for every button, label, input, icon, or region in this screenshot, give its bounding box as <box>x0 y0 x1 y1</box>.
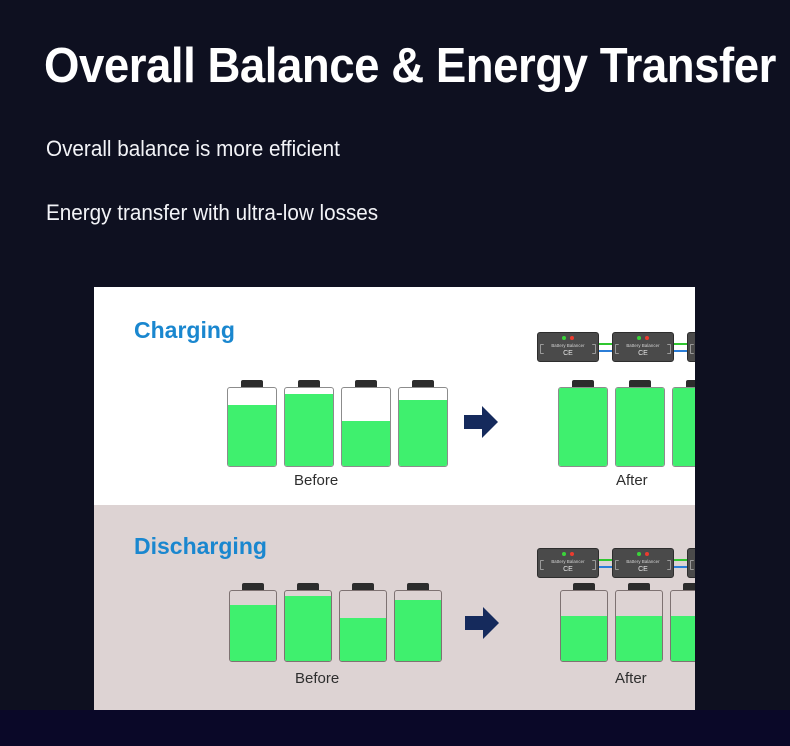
terminal-clip-icon <box>615 344 619 354</box>
balancer-module: Battery Balancer CE <box>687 332 695 362</box>
battery-terminal-icon <box>298 380 320 387</box>
terminal-clip-icon <box>667 560 671 570</box>
balancer-module: Battery Balancer CE <box>537 548 599 578</box>
battery-terminal-icon <box>412 380 434 387</box>
battery-fill <box>671 616 695 662</box>
connector-wires <box>599 332 612 362</box>
battery-cell <box>341 380 391 467</box>
balancer-name: Battery Balancer <box>551 559 584 564</box>
battery-fill <box>230 605 276 661</box>
bottom-band <box>0 710 790 746</box>
blue-wire <box>599 566 612 568</box>
battery-cell <box>227 380 277 467</box>
balancer-name: Battery Balancer <box>626 343 659 348</box>
discharging-balancer-row: Battery Balancer CE Battery Balancer CE <box>537 548 695 578</box>
red-led-icon <box>645 336 649 340</box>
battery-body <box>672 387 695 467</box>
battery-body <box>339 590 387 662</box>
discharging-panel-title: Discharging <box>134 533 267 560</box>
battery-body <box>558 387 608 467</box>
battery-fill <box>559 388 607 466</box>
charging-before-label: Before <box>294 472 338 489</box>
terminal-clip-icon <box>690 560 694 570</box>
terminal-clip-icon <box>592 344 596 354</box>
balancer-cert: CE <box>638 350 648 357</box>
terminal-clip-icon <box>540 560 544 570</box>
battery-terminal-icon <box>629 380 651 387</box>
battery-body <box>398 387 448 467</box>
battery-body <box>284 590 332 662</box>
balancer-module: Battery Balancer CE <box>537 332 599 362</box>
charging-panel: Charging Battery Balancer CE <box>94 287 695 505</box>
page-subtitle-1: Overall balance is more efficient <box>46 136 340 162</box>
battery-cell <box>284 380 334 467</box>
battery-cell <box>394 583 442 662</box>
battery-fill <box>340 618 386 661</box>
battery-terminal-icon <box>628 583 650 590</box>
discharging-before-batteries <box>229 583 442 662</box>
led-indicators <box>562 336 574 340</box>
connector-wires <box>674 332 687 362</box>
right-arrow-icon <box>465 605 499 641</box>
battery-body <box>615 387 665 467</box>
led-indicators <box>562 552 574 556</box>
red-led-icon <box>645 552 649 556</box>
battery-body <box>615 590 663 662</box>
red-led-icon <box>570 552 574 556</box>
balancer-cert: CE <box>563 350 573 357</box>
battery-cell <box>339 583 387 662</box>
discharging-before-label: Before <box>295 670 339 687</box>
battery-fill <box>395 600 441 661</box>
terminal-clip-icon <box>615 560 619 570</box>
balancer-name: Battery Balancer <box>626 559 659 564</box>
battery-fill <box>342 421 390 466</box>
page-title: Overall Balance & Energy Transfer <box>44 38 776 94</box>
battery-cell <box>398 380 448 467</box>
balance-diagram-card: Charging Battery Balancer CE <box>94 287 695 710</box>
battery-fill <box>399 400 447 466</box>
battery-body <box>341 387 391 467</box>
battery-fill <box>285 394 333 466</box>
battery-terminal-icon <box>573 583 595 590</box>
charging-balancer-row: Battery Balancer CE Battery Balancer CE <box>537 332 695 362</box>
battery-body <box>560 590 608 662</box>
battery-cell <box>558 380 608 467</box>
battery-terminal-icon <box>355 380 377 387</box>
battery-fill <box>228 405 276 466</box>
charging-after-label: After <box>616 472 648 489</box>
battery-terminal-icon <box>297 583 319 590</box>
blue-wire <box>599 350 612 352</box>
terminal-clip-icon <box>690 344 694 354</box>
balancer-cert: CE <box>638 566 648 573</box>
battery-body <box>229 590 277 662</box>
discharging-after-label: After <box>615 670 647 687</box>
battery-cell <box>229 583 277 662</box>
battery-fill <box>616 388 664 466</box>
battery-terminal-icon <box>572 380 594 387</box>
battery-cell <box>615 583 663 662</box>
battery-cell <box>672 380 695 467</box>
charging-panel-title: Charging <box>134 317 235 344</box>
right-arrow-icon <box>464 404 498 440</box>
green-wire <box>599 559 612 561</box>
green-led-icon <box>562 552 566 556</box>
charging-before-batteries <box>227 380 448 467</box>
balancer-module: Battery Balancer CE <box>612 332 674 362</box>
discharging-panel: Discharging Battery Balancer CE <box>94 505 695 710</box>
battery-cell <box>560 583 608 662</box>
battery-terminal-icon <box>686 380 695 387</box>
green-wire <box>674 559 687 561</box>
battery-fill <box>561 616 607 662</box>
green-led-icon <box>637 552 641 556</box>
battery-cell <box>284 583 332 662</box>
terminal-clip-icon <box>592 560 596 570</box>
battery-cell <box>615 380 665 467</box>
battery-fill <box>285 596 331 661</box>
battery-fill <box>616 616 662 662</box>
battery-body <box>227 387 277 467</box>
charging-after-batteries <box>558 380 695 467</box>
balancer-name: Battery Balancer <box>551 343 584 348</box>
battery-body <box>670 590 695 662</box>
green-led-icon <box>562 336 566 340</box>
led-indicators <box>637 552 649 556</box>
balancer-module: Battery Balancer CE <box>687 548 695 578</box>
battery-terminal-icon <box>241 380 263 387</box>
green-led-icon <box>637 336 641 340</box>
battery-terminal-icon <box>242 583 264 590</box>
battery-terminal-icon <box>407 583 429 590</box>
terminal-clip-icon <box>667 344 671 354</box>
blue-wire <box>674 566 687 568</box>
terminal-clip-icon <box>540 344 544 354</box>
battery-cell <box>670 583 695 662</box>
connector-wires <box>674 548 687 578</box>
balancer-cert: CE <box>563 566 573 573</box>
discharging-after-batteries <box>560 583 695 662</box>
battery-body <box>284 387 334 467</box>
green-wire <box>599 343 612 345</box>
balancer-module: Battery Balancer CE <box>612 548 674 578</box>
red-led-icon <box>570 336 574 340</box>
blue-wire <box>674 350 687 352</box>
battery-terminal-icon <box>683 583 695 590</box>
battery-fill <box>673 388 695 466</box>
green-wire <box>674 343 687 345</box>
battery-terminal-icon <box>352 583 374 590</box>
page-subtitle-2: Energy transfer with ultra-low losses <box>46 200 378 226</box>
connector-wires <box>599 548 612 578</box>
led-indicators <box>637 336 649 340</box>
battery-body <box>394 590 442 662</box>
